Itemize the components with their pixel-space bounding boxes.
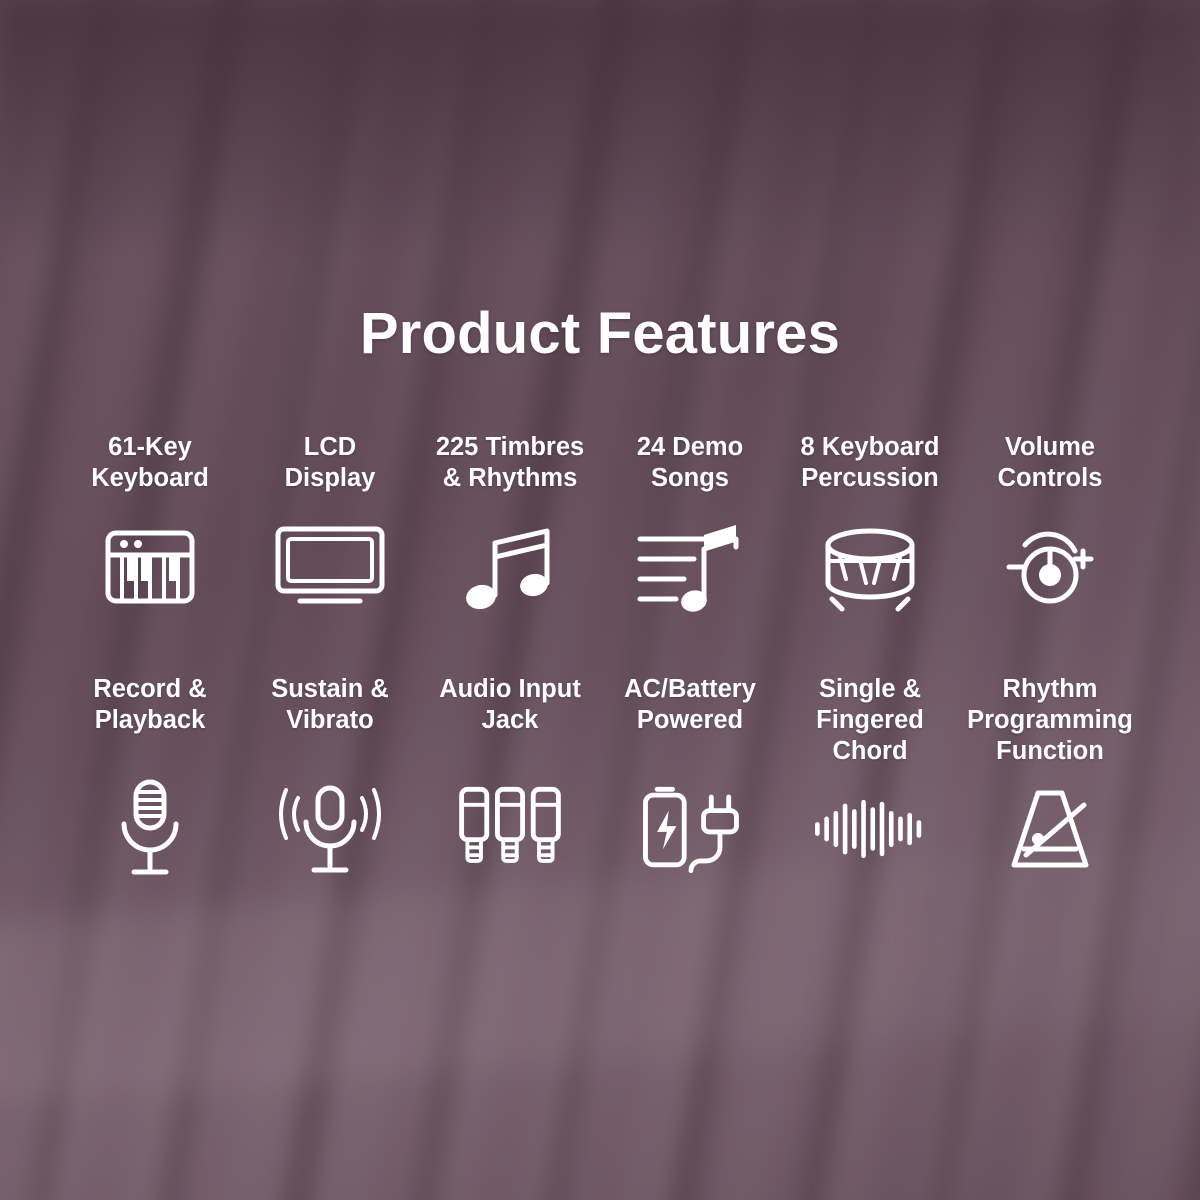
feature-label: Sustain & Vibrato — [271, 674, 389, 772]
feature-item-demo-songs: 24 Demo Songs — [600, 432, 780, 622]
feature-item-rhythm-programming: Rhythm Programming Function — [960, 674, 1140, 884]
metronome-icon — [990, 774, 1110, 884]
battery-plug-icon — [630, 774, 750, 884]
feature-grid: 61-Key Keyboard — [60, 432, 1140, 884]
feature-label: Record & Playback — [93, 674, 206, 772]
keyboard-icon — [90, 512, 210, 622]
feature-item-record: Record & Playback — [60, 674, 240, 884]
feature-item-sustain: Sustain & Vibrato — [240, 674, 420, 884]
feature-item-keyboard: 61-Key Keyboard — [60, 432, 240, 622]
feature-label: AC/Battery Powered — [624, 674, 756, 772]
feature-label: Single & Fingered Chord — [816, 674, 924, 772]
microphone-icon — [90, 774, 210, 884]
feature-label: Audio Input Jack — [439, 674, 581, 772]
feature-item-audio-jack: Audio Input Jack — [420, 674, 600, 884]
feature-label: 61-Key Keyboard — [91, 432, 209, 498]
volume-knob-icon — [990, 512, 1110, 622]
vibrato-microphone-icon — [270, 774, 390, 884]
waveform-icon — [810, 774, 930, 884]
audio-jack-icon — [450, 774, 570, 884]
feature-label: 225 Timbres & Rhythms — [436, 432, 584, 498]
page-title: Product Features — [0, 300, 1200, 367]
feature-label: 24 Demo Songs — [637, 432, 743, 498]
feature-label: Volume Controls — [998, 432, 1103, 498]
lcd-display-icon — [270, 512, 390, 622]
feature-label: 8 Keyboard Percussion — [801, 432, 940, 498]
feature-item-timbres: 225 Timbres & Rhythms — [420, 432, 600, 622]
feature-item-lcd: LCD Display — [240, 432, 420, 622]
feature-label: LCD Display — [285, 432, 376, 498]
playlist-note-icon — [630, 512, 750, 622]
feature-item-percussion: 8 Keyboard Percussion — [780, 432, 960, 622]
feature-label: Rhythm Programming Function — [967, 674, 1133, 772]
feature-item-chord: Single & Fingered Chord — [780, 674, 960, 884]
feature-poster: Product Features 61-Key Keyboard — [0, 0, 1200, 1200]
feature-item-volume: Volume Controls — [960, 432, 1140, 622]
music-notes-icon — [450, 512, 570, 622]
feature-item-power: AC/Battery Powered — [600, 674, 780, 884]
snare-drum-icon — [810, 512, 930, 622]
